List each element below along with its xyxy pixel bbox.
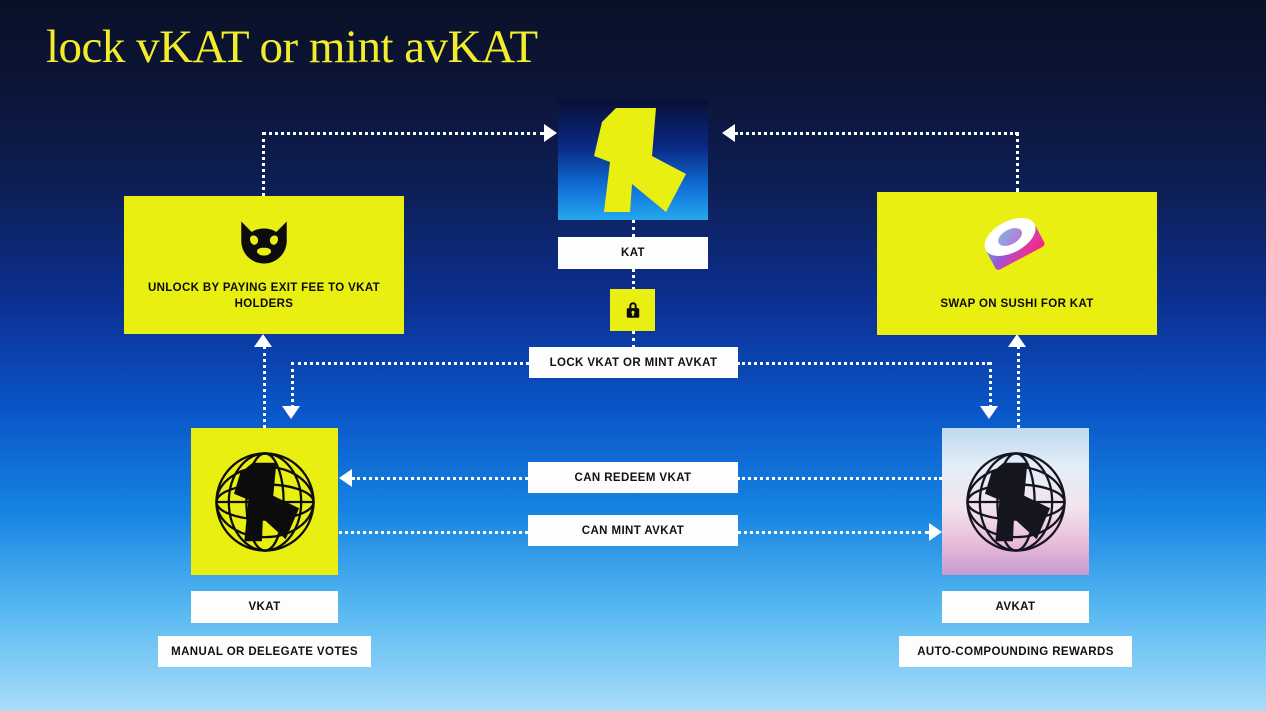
connector-unlock-up (262, 132, 265, 196)
sushi-roll-icon (980, 215, 1054, 285)
connector-redeem-right (737, 477, 942, 480)
sushi-box-caption: SWAP ON SUSHI FOR KAT (930, 297, 1103, 313)
arrowhead-into-avkat-left (929, 523, 942, 541)
edge-label-can-redeem: CAN REDEEM VKAT (528, 462, 738, 493)
arrowhead-into-unlock-bottom (254, 334, 272, 347)
arrowhead-into-kat-left (544, 124, 557, 142)
connector-kat-to-katlabel (632, 220, 635, 237)
avkat-tile[interactable] (942, 428, 1089, 575)
vkat-tile[interactable] (191, 428, 338, 575)
kat-k-logo-icon (558, 100, 708, 220)
connector-unlock-to-kat (262, 132, 544, 135)
connector-mint-right (737, 531, 929, 534)
globe-k-icon (203, 440, 327, 564)
arrowhead-into-vkat-top (282, 406, 300, 419)
connector-lockmint-right-rail (737, 362, 990, 365)
edge-label-lock-or-mint: LOCK VKAT OR MINT AVKAT (529, 347, 738, 378)
connector-sushi-to-kat (735, 132, 1018, 135)
connector-lockmint-to-vkat (291, 362, 294, 408)
arrowhead-into-vkat-right (339, 469, 352, 487)
connector-sushi-up (1016, 132, 1019, 192)
arrowhead-into-kat-right (722, 124, 735, 142)
globe-k-gradient-icon (954, 440, 1078, 564)
arrowhead-into-sushi-bottom (1008, 334, 1026, 347)
connector-lock-to-lockmint (632, 331, 635, 348)
kat-label: KAT (558, 237, 708, 269)
edge-label-can-mint: CAN MINT AVKAT (528, 515, 738, 546)
arrowhead-into-avkat-top (980, 406, 998, 419)
page-title: lock vKAT or mint avKAT (46, 24, 538, 71)
unlock-box-caption: UNLOCK BY PAYING EXIT FEE TO VKAT HOLDER… (124, 281, 404, 312)
connector-lockmint-left-rail (291, 362, 529, 365)
sushi-box[interactable]: SWAP ON SUSHI FOR KAT (877, 192, 1157, 335)
cat-face-icon (236, 218, 292, 267)
lock-chip[interactable] (610, 289, 655, 331)
padlock-icon (622, 299, 644, 321)
connector-avkat-to-sushi (1017, 346, 1020, 428)
kat-logo-tile[interactable] (558, 100, 708, 220)
diagram-canvas: lock vKAT or mint avKAT KAT (0, 0, 1266, 711)
connector-vkat-to-unlock (263, 346, 266, 428)
connector-lockmint-to-avkat (989, 362, 992, 408)
avkat-label: AVKAT (942, 591, 1089, 623)
connector-katlabel-to-lock (632, 269, 635, 290)
avkat-note: AUTO-COMPOUNDING REWARDS (899, 636, 1132, 667)
connector-redeem-left (352, 477, 528, 480)
connector-mint-left (339, 531, 528, 534)
vkat-note: MANUAL OR DELEGATE VOTES (158, 636, 371, 667)
unlock-box[interactable]: UNLOCK BY PAYING EXIT FEE TO VKAT HOLDER… (124, 196, 404, 334)
vkat-label: VKAT (191, 591, 338, 623)
